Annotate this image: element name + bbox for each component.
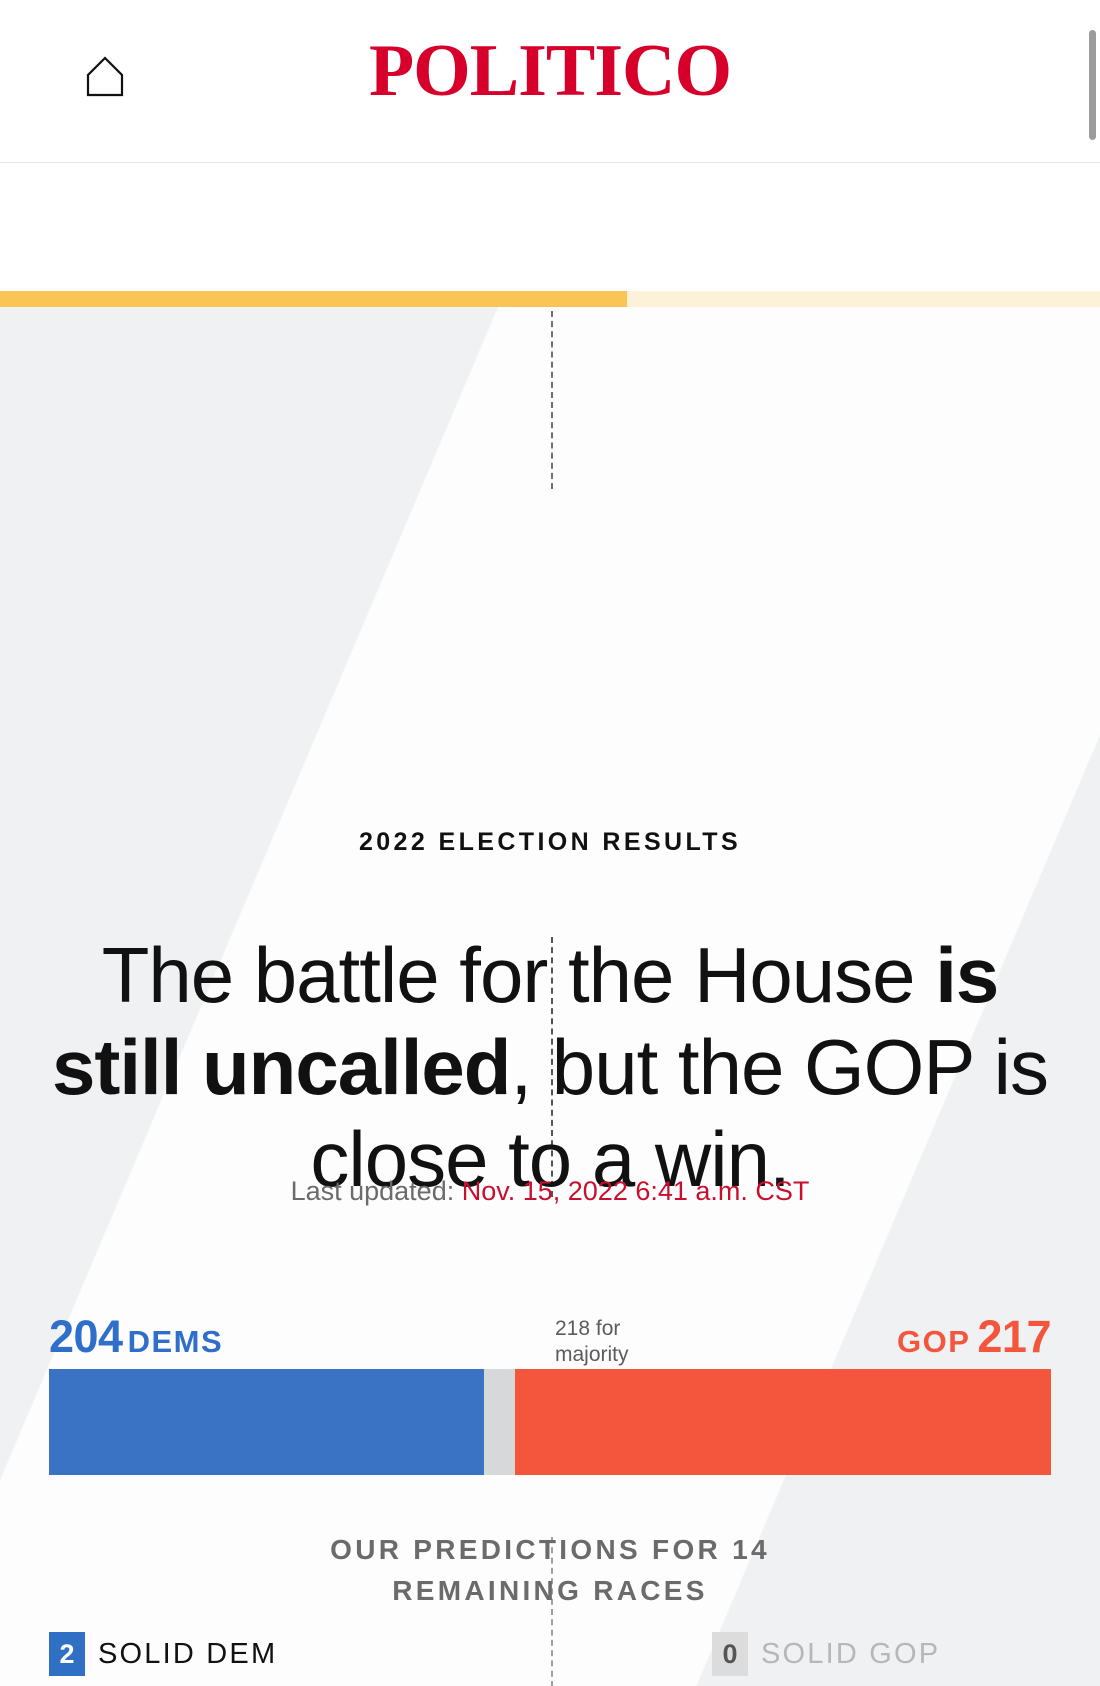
last-updated-value: Nov. 15, 2022 6:41 a.m. CST bbox=[462, 1176, 810, 1206]
house-gop-party: GOP bbox=[897, 1324, 970, 1359]
legend-chip-solid-dem: 2 bbox=[49, 1632, 85, 1676]
article-kicker: 2022 ELECTION RESULTS bbox=[0, 828, 1100, 857]
headline-part-1: The battle for the House bbox=[102, 931, 936, 1019]
house-chart-labels: 204DEMS 218 for majority GOP217 bbox=[49, 1311, 1051, 1369]
house-gop-label: GOP217 bbox=[897, 1311, 1051, 1363]
house-seat-chart: 204DEMS 218 for majority GOP217 bbox=[49, 1311, 1051, 1475]
legend-chip-solid-gop: 0 bbox=[712, 1632, 748, 1676]
house-gop-count: 217 bbox=[977, 1311, 1051, 1362]
house-dem-party: DEMS bbox=[128, 1324, 224, 1359]
legend-label-solid-dem: SOLID DEM bbox=[98, 1638, 277, 1671]
house-bar-dem[interactable] bbox=[49, 1369, 484, 1475]
predictions-title-line-1: OUR PREDICTIONS FOR 14 bbox=[0, 1529, 1100, 1570]
house-dem-label: 204DEMS bbox=[49, 1311, 223, 1363]
page-scrollbar[interactable] bbox=[1089, 30, 1096, 140]
majority-note-line-2: majority bbox=[555, 1342, 675, 1368]
last-updated-label: Last updated: bbox=[291, 1176, 462, 1206]
predictions-title-line-2: REMAINING RACES bbox=[0, 1570, 1100, 1611]
masthead: POLITICO bbox=[0, 0, 1100, 163]
legend-label-solid-gop: SOLID GOP bbox=[761, 1638, 940, 1671]
house-seat-bar[interactable] bbox=[49, 1369, 1051, 1475]
house-dem-count: 204 bbox=[49, 1311, 123, 1362]
majority-note-line-1: 218 for bbox=[555, 1316, 675, 1342]
house-bar-undecided[interactable] bbox=[484, 1369, 515, 1475]
house-bar-gop[interactable] bbox=[515, 1369, 1051, 1475]
center-dashed-line-top bbox=[551, 311, 553, 489]
main-content: 2022 ELECTION RESULTS The battle for the… bbox=[0, 307, 1100, 1686]
politico-election-results-page: POLITICO 2022 ELECTIONS Sen. DEMS ✔ bbox=[0, 0, 1100, 1686]
legend-item-solid-gop[interactable]: 0 SOLID GOP bbox=[712, 1632, 940, 1676]
legend-item-solid-dem[interactable]: 2 SOLID DEM bbox=[49, 1632, 277, 1676]
reading-progress-bar bbox=[0, 291, 1100, 307]
legend-row: 2 SOLID DEM 0 SOLID GOP bbox=[49, 1632, 1051, 1686]
election-nav-strip: 2022 ELECTIONS Sen. DEMS ✔ 204 bbox=[0, 164, 1100, 291]
predictions-title: OUR PREDICTIONS FOR 14 REMAINING RACES bbox=[0, 1529, 1100, 1611]
politico-wordmark[interactable]: POLITICO bbox=[0, 34, 1100, 108]
predictions-legend: 2 SOLID DEM 0 SOLID GOP 1 LIKELY DEM 3 T… bbox=[49, 1632, 1051, 1686]
page-title: The battle for the House is still uncall… bbox=[45, 929, 1055, 1205]
majority-threshold-note: 218 for majority bbox=[555, 1316, 675, 1368]
reading-progress-fill bbox=[0, 291, 627, 307]
last-updated: Last updated: Nov. 15, 2022 6:41 a.m. CS… bbox=[0, 1176, 1100, 1207]
